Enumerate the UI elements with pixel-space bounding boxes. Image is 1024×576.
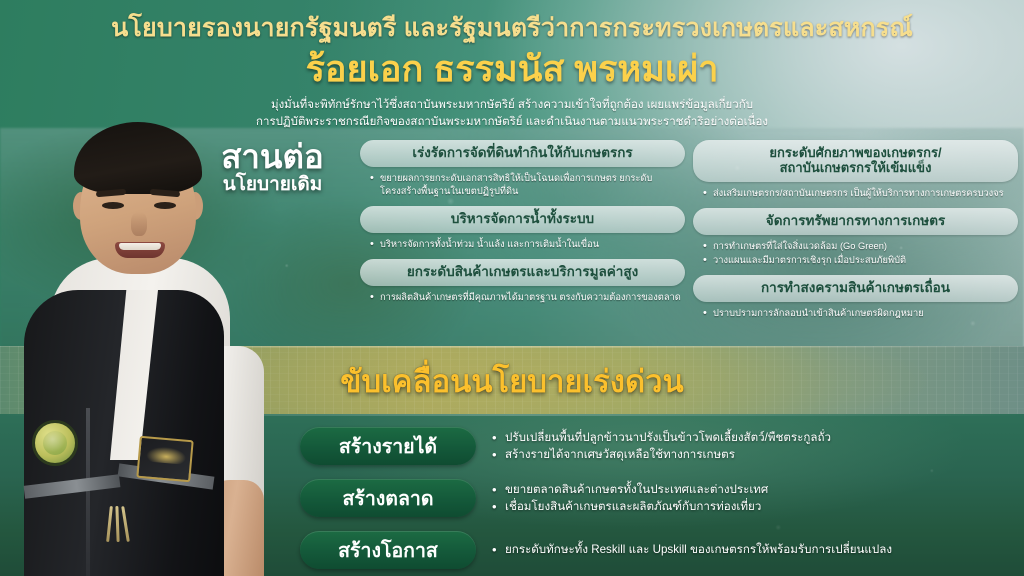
urgent-row-chip[interactable]: สร้างโอกาส: [300, 531, 476, 569]
urgent-row-bullets: ยกระดับทักษะทั้ง Reskill และ Upskill ของ…: [476, 541, 1016, 558]
policy-bullet-list: ส่งเสริมเกษตรกร/สถาบันเกษตรกร เป็นผู้ให้…: [693, 187, 1018, 200]
policy-bullet: ปราบปรามการลักลอบนำเข้าสินค้าเกษตรผิดกฎห…: [703, 307, 1014, 320]
portrait-hair: [74, 122, 202, 194]
continue-policy-label-line2: นโยบายเดิม: [185, 173, 360, 197]
portrait-eye-right: [154, 202, 176, 209]
urgent-row: สร้างโอกาส ยกระดับทักษะทั้ง Reskill และ …: [300, 524, 1016, 576]
urgent-row: สร้างรายได้ ปรับเปลี่ยนพื้นที่ปลูกข้าวนา…: [300, 420, 1016, 472]
poster-header: นโยบายรองนายกรัฐมนตรี และรัฐมนตรีว่าการก…: [0, 14, 1024, 131]
continue-policy-label: สานต่อ นโยบายเดิม: [185, 140, 360, 197]
portrait-teeth: [119, 243, 161, 250]
policy-pill[interactable]: การทำสงครามสินค้าเกษตรเถื่อน: [693, 275, 1018, 302]
urgent-policy-title: ขับเคลื่อนนโยบายเร่งด่วน: [0, 356, 1024, 406]
policy-bullet: การทำเกษตรที่ใส่ใจสิ่งแวดล้อม (Go Green): [703, 240, 1014, 253]
policy-bullet: วางแผนและมีมาตรการเชิงรุก เมื่อประสบภัยพ…: [703, 254, 1014, 267]
policy-bullet-list: บริหารจัดการทั้งน้ำท่วม น้ำแล้ง และการเต…: [360, 238, 685, 251]
portrait-vest-cords: [106, 506, 136, 546]
urgent-bullet: ขยายตลาดสินค้าเกษตรทั้งในประเทศและต่างปร…: [492, 481, 1016, 498]
urgent-row-bullets: ปรับเปลี่ยนพื้นที่ปลูกข้าวนาปรังเป็นข้าว…: [476, 429, 1016, 463]
urgent-row-bullets: ขยายตลาดสินค้าเกษตรทั้งในประเทศและต่างปร…: [476, 481, 1016, 515]
policy-bullet-list: การทำเกษตรที่ใส่ใจสิ่งแวดล้อม (Go Green)…: [693, 240, 1018, 267]
header-subtitle: มุ่งมั่นที่จะพิทักษ์รักษาไว้ซึ่งสถาบันพร…: [0, 97, 1024, 130]
policy-pill[interactable]: เร่งรัดการจัดที่ดินทำกินให้กับเกษตรกร: [360, 140, 685, 167]
policy-bullet: ขยายผลการยกระดับเอกสารสิทธิให้เป็นโฉนดเพ…: [370, 172, 681, 198]
portrait-nose: [131, 212, 147, 236]
policy-pill[interactable]: ยกระดับสินค้าเกษตรและบริการมูลค่าสูง: [360, 259, 685, 286]
header-subtitle-line2: การปฏิบัติพระราชกรณียกิจของสถาบันพระมหาก…: [0, 114, 1024, 131]
continue-policy-column-left: เร่งรัดการจัดที่ดินทำกินให้กับเกษตรกร ขย…: [360, 140, 685, 328]
urgent-row-chip[interactable]: สร้างรายได้: [300, 427, 476, 465]
continue-policy-label-line1: สานต่อ: [185, 140, 360, 173]
policy-bullet: ส่งเสริมเกษตรกร/สถาบันเกษตรกร เป็นผู้ให้…: [703, 187, 1014, 200]
policy-bullet-list: ขยายผลการยกระดับเอกสารสิทธิให้เป็นโฉนดเพ…: [360, 172, 685, 198]
policy-pill[interactable]: ยกระดับศักยภาพของเกษตรกร/ สถาบันเกษตรกรใ…: [693, 140, 1018, 182]
urgent-row-chip[interactable]: สร้างตลาด: [300, 479, 476, 517]
policy-bullet: บริหารจัดการทั้งน้ำท่วม น้ำแล้ง และการเต…: [370, 238, 681, 251]
ministry-emblem-patch: [32, 420, 78, 466]
portrait-vest-zipper: [86, 408, 90, 576]
urgent-bullet: สร้างรายได้จากเศษวัสดุเหลือใช้ทางการเกษต…: [492, 446, 1016, 463]
continue-policy-columns: เร่งรัดการจัดที่ดินทำกินให้กับเกษตรกร ขย…: [360, 140, 1018, 328]
name-patch: [136, 436, 193, 483]
header-minister-name: ร้อยเอก ธรรมนัส พรหมเผ่า: [0, 49, 1024, 89]
header-title-line1: นโยบายรองนายกรัฐมนตรี และรัฐมนตรีว่าการก…: [0, 14, 1024, 43]
urgent-bullet: ยกระดับทักษะทั้ง Reskill และ Upskill ของ…: [492, 541, 1016, 558]
policy-bullet: การผลิตสินค้าเกษตรที่มีคุณภาพได้มาตรฐาน …: [370, 291, 681, 304]
urgent-bullet: เชื่อมโยงสินค้าเกษตรและผลิตภัณฑ์กับการท่…: [492, 498, 1016, 515]
portrait-eye-left: [102, 202, 124, 209]
header-subtitle-line1: มุ่งมั่นที่จะพิทักษ์รักษาไว้ซึ่งสถาบันพร…: [0, 97, 1024, 114]
urgent-policy-rows: สร้างรายได้ ปรับเปลี่ยนพื้นที่ปลูกข้าวนา…: [300, 420, 1016, 576]
poster-root: นโยบายรองนายกรัฐมนตรี และรัฐมนตรีว่าการก…: [0, 0, 1024, 576]
urgent-row: สร้างตลาด ขยายตลาดสินค้าเกษตรทั้งในประเท…: [300, 472, 1016, 524]
policy-bullet-list: การผลิตสินค้าเกษตรที่มีคุณภาพได้มาตรฐาน …: [360, 291, 685, 304]
policy-pill[interactable]: จัดการทรัพยากรทางการเกษตร: [693, 208, 1018, 235]
policy-bullet-list: ปราบปรามการลักลอบนำเข้าสินค้าเกษตรผิดกฎห…: [693, 307, 1018, 320]
policy-pill[interactable]: บริหารจัดการน้ำทั้งระบบ: [360, 206, 685, 233]
urgent-bullet: ปรับเปลี่ยนพื้นที่ปลูกข้าวนาปรังเป็นข้าว…: [492, 429, 1016, 446]
continue-policy-column-right: ยกระดับศักยภาพของเกษตรกร/ สถาบันเกษตรกรใ…: [693, 140, 1018, 328]
